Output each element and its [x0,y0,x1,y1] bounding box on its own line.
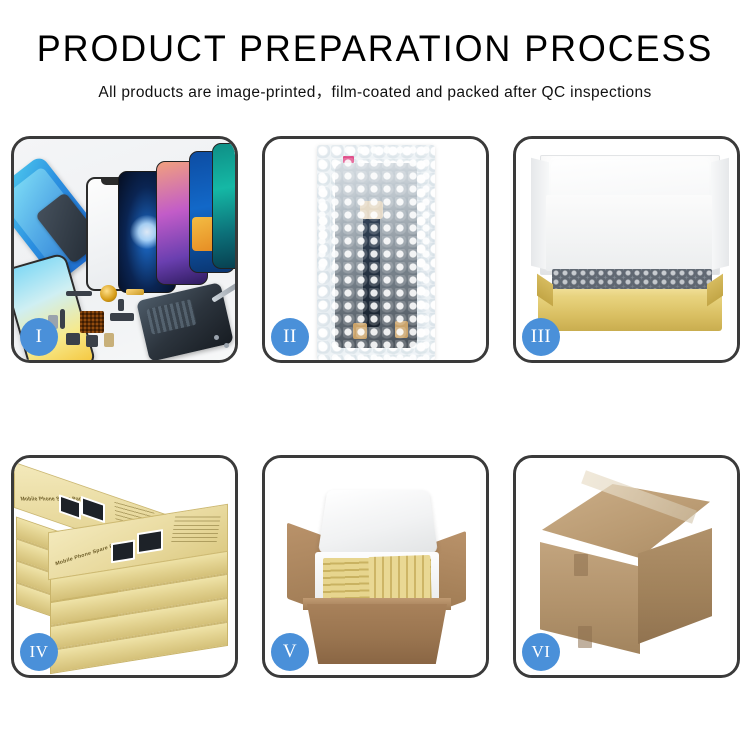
step-badge-2: II [271,318,309,356]
cable-part [60,309,65,329]
step-panel-6[interactable]: VI [513,455,740,678]
step-panel-4[interactable]: Mobile Phone Spare Parts Mobile Phone Sp… [11,455,238,678]
connector-strip-part [110,313,134,321]
box-spec-lines-2 [171,516,221,542]
step-badge-3: III [522,318,560,356]
button-flex-part [118,299,124,311]
step-panel-5[interactable]: V [262,455,489,678]
speaker-part [66,291,92,296]
box-window-2b [137,529,163,554]
page-header: PRODUCT PREPARATION PROCESS All products… [0,0,750,102]
page-title: PRODUCT PREPARATION PROCESS [11,30,739,69]
connector-left [353,323,367,339]
box-window-1b [81,496,105,523]
carton-hand-hole-bottom [578,626,592,648]
foam-box-lid [318,490,438,553]
connector-right [395,321,408,338]
process-steps-grid: I II III [11,136,739,678]
step-panel-3[interactable]: III [513,136,740,363]
battery-connector-part [104,333,114,347]
step-panel-2[interactable]: II [262,136,489,363]
step-badge-1: I [20,318,58,356]
step-4-image: Mobile Phone Spare Parts Mobile Phone Sp… [14,458,235,675]
coil-part [100,285,117,302]
carton-hand-hole-top [574,554,588,576]
screw-part [214,335,219,340]
page-subtitle: All products are image-printed，film-coat… [0,80,750,102]
vibrator-part [66,333,80,345]
pink-label-sticker [343,156,354,163]
step-5-image: V [265,458,486,675]
kraft-box-tray [538,297,722,331]
step-1-image: I [14,139,235,360]
foam-insert [546,195,712,271]
box-window-2a [111,539,135,563]
chip-part [86,335,98,347]
step-3-image: III [516,139,737,360]
step-6-image: VI [516,458,737,675]
step-2-image: II [265,139,486,360]
yellow-boxes-stack-2 [368,555,432,603]
screw-part-2 [224,343,229,348]
screen-flex-cable [363,215,380,327]
shipping-carton-open [307,604,447,664]
screws-tray-part [80,311,104,333]
step-badge-5: V [271,633,309,671]
step-badge-4: IV [20,633,58,671]
phone-teal-screen [212,143,235,269]
gold-flex-part [126,289,144,295]
step-panel-1[interactable]: I [11,136,238,363]
step-badge-6: VI [522,633,560,671]
bubble-wrap-bag [317,145,435,360]
